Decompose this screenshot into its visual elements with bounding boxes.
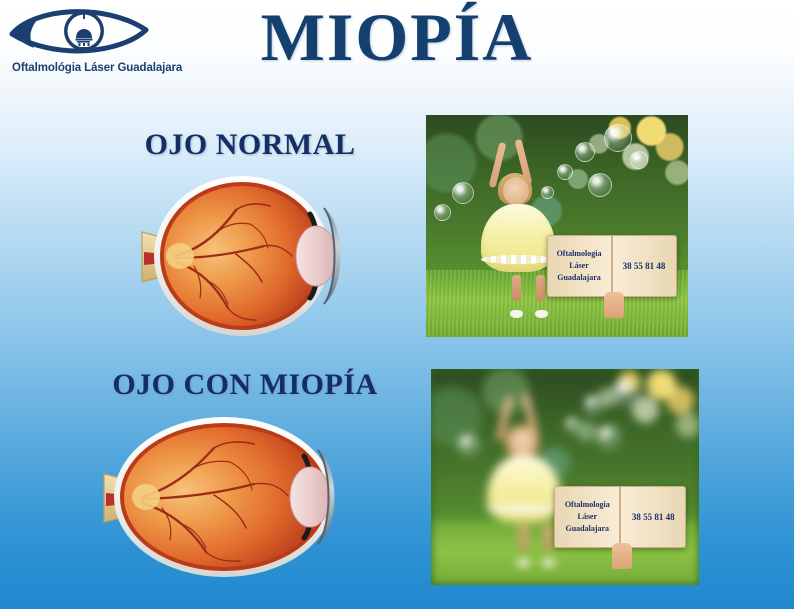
- child-with-bubbles-clear-photo: Oftalmologia Láser Guadalajara 38 55 81 …: [426, 115, 688, 337]
- normal-eye-cross-section-diagram: [124, 166, 354, 346]
- book-line-2: Láser: [569, 260, 589, 272]
- book-line-2: Láser: [577, 511, 597, 523]
- book-phone-number: 38 55 81 48: [632, 512, 675, 522]
- child-figure: [426, 115, 688, 337]
- book-right-page: 38 55 81 48: [612, 235, 677, 297]
- book-right-page: 38 55 81 48: [620, 486, 686, 548]
- hand-holding-book: [604, 292, 624, 318]
- myopic-eye-cross-section-diagram: [88, 406, 350, 588]
- open-book-with-clinic-info: Oftalmologia Láser Guadalajara 38 55 81 …: [554, 486, 686, 548]
- poster-canvas: Oftalmológia Láser Guadalajara MIOPÍA OJ…: [0, 0, 794, 609]
- poster-header: Oftalmológia Láser Guadalajara MIOPÍA: [0, 0, 794, 96]
- hand-holding-book: [612, 543, 632, 569]
- book-line-1: Oftalmologia: [565, 499, 610, 511]
- open-book-with-clinic-info: Oftalmologia Láser Guadalajara 38 55 81 …: [547, 235, 677, 297]
- book-left-page: Oftalmologia Láser Guadalajara: [547, 235, 612, 297]
- child-with-bubbles-blurred-photo: Oftalmologia Láser Guadalajara 38 55 81 …: [431, 369, 699, 585]
- section-heading-normal-eye: OJO NORMAL: [60, 128, 440, 162]
- section-heading-myopic-eye: OJO CON MIOPÍA: [50, 368, 440, 402]
- child-figure: [431, 369, 699, 585]
- book-phone-number: 38 55 81 48: [623, 261, 666, 271]
- book-line-3: Guadalajara: [557, 272, 601, 284]
- book-line-1: Oftalmologia: [557, 248, 602, 260]
- page-title: MIOPÍA: [0, 2, 794, 73]
- book-line-3: Guadalajara: [565, 523, 609, 535]
- book-left-page: Oftalmologia Láser Guadalajara: [554, 486, 620, 548]
